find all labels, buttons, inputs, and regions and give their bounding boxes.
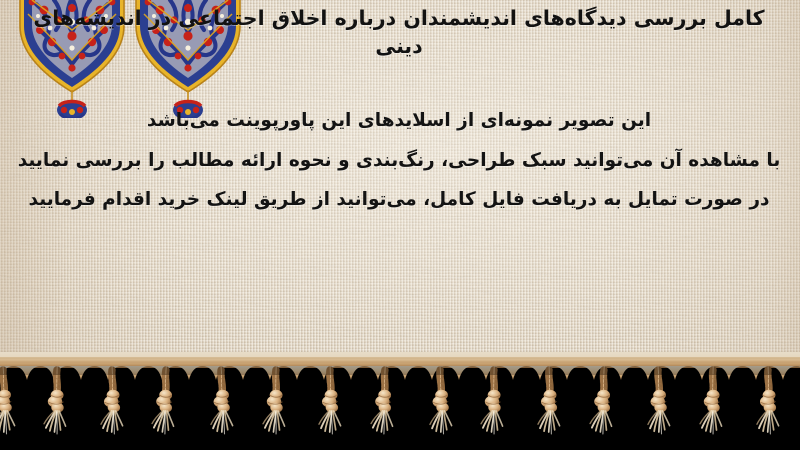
body-line-2: با مشاهده آن می‌توانید سبک طراحی، رنگ‌بن… xyxy=(8,152,790,171)
fringe-tassels xyxy=(0,352,800,450)
carpet-fringe xyxy=(0,352,800,450)
slide-title: کامل بررسی دیدگاه‌های اندیشمندان درباره … xyxy=(16,4,782,61)
body-line-1: این تصویر نمونه‌ای از اسلایدهای این پاور… xyxy=(8,112,790,131)
slide-body: این تصویر نمونه‌ای از اسلایدهای این پاور… xyxy=(8,112,790,210)
tassel-group xyxy=(0,370,779,435)
presentation-slide: کامل بررسی دیدگاه‌های اندیشمندان درباره … xyxy=(0,0,800,450)
body-line-3: در صورت تمایل به دریافت فایل کامل، می‌تو… xyxy=(8,191,790,210)
